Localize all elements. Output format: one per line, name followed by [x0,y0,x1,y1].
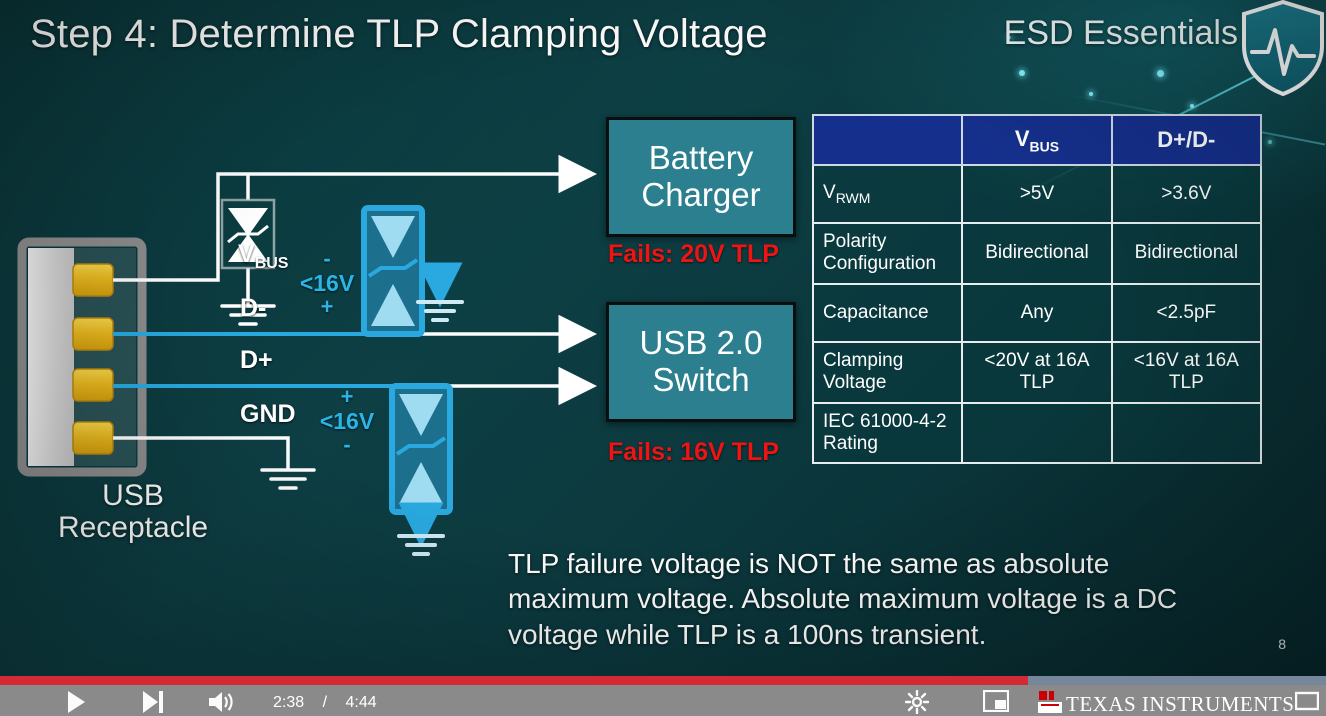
slide-caption: TLP failure voltage is NOT the same as a… [508,546,1208,652]
battery-charger-fail-note: Fails: 20V TLP [608,240,779,269]
slide-page-number: 8 [1278,636,1286,652]
cell-vrwm-dpdm: >3.6V [1112,165,1261,223]
usb-switch-fail-note: Fails: 16V TLP [608,438,779,467]
usb-caption-line2: Receptacle [18,512,248,544]
pin-label-dplus: D+ [240,346,273,375]
ti-brand-text: TEXAS INSTRUMENTS [1066,692,1294,716]
specification-table: VBUS D+/D- VRWM >5V >3.6V Polarity Confi… [812,114,1262,464]
row-label-iec: IEC 61000-4-2 Rating [813,403,962,464]
battery-charger-line1: Battery [641,140,760,177]
brand-label: ESD Essentials [1004,14,1238,53]
cell-polarity-dpdm: Bidirectional [1112,223,1261,284]
tvs-upper-value: <16V [290,270,364,296]
cell-clamping-vbus: <20V at 16A TLP [962,342,1111,403]
usb-receptacle-caption: USB Receptacle [18,480,248,545]
cell-polarity-vbus: Bidirectional [962,223,1111,284]
miniplayer-icon[interactable] [983,690,1009,712]
accent-dot-1 [1019,70,1025,76]
usb-switch-line2: Switch [640,362,763,399]
cell-iec-vbus [962,403,1111,464]
table-row: IEC 61000-4-2 Rating [813,403,1261,464]
video-player-controls: 2:38 / 4:44 TEXAS INSTRUMENTS [0,676,1326,716]
pin-label-gnd: GND [240,400,296,429]
pin-label-dminus: D- [240,294,266,323]
block-battery-charger: Battery Charger [606,117,796,237]
accent-dot-7 [1268,140,1272,144]
settings-gear-icon[interactable] [905,690,929,714]
tvs-lower-value: <16V [310,408,384,434]
current-time: 2:38 [273,694,304,711]
ti-logo-icon [1038,690,1062,714]
page-title: Step 4: Determine TLP Clamping Voltage [30,12,768,57]
slide-canvas: Step 4: Determine TLP Clamping Voltage E… [0,0,1326,676]
cell-capacitance-dpdm: <2.5pF [1112,284,1261,342]
cell-iec-dpdm [1112,403,1261,464]
next-track-icon[interactable] [140,690,164,714]
usb-switch-line1: USB 2.0 [640,325,763,362]
cell-capacitance-vbus: Any [962,284,1111,342]
row-label-polarity: Polarity Configuration [813,223,962,284]
duration: 4:44 [346,694,377,711]
battery-charger-line2: Charger [641,177,760,214]
tvs-upper-sign-bottom: + [290,296,364,318]
accent-dot-3 [1157,70,1164,77]
accent-dot-2 [1089,92,1093,96]
block-usb-switch: USB 2.0 Switch [606,302,796,422]
usb-caption-line1: USB [18,480,248,512]
progress-bar-track[interactable] [0,676,1326,685]
table-header-vbus: VBUS [962,115,1111,165]
table-row: Clamping Voltage <20V at 16A TLP <16V at… [813,342,1261,403]
cell-clamping-dpdm: <16V at 16A TLP [1112,342,1261,403]
table-header-blank [813,115,962,165]
video-player-stage: Step 4: Determine TLP Clamping Voltage E… [0,0,1326,716]
tvs-upper-sign-top: - [290,248,364,270]
table-row: Polarity Configuration Bidirectional Bid… [813,223,1261,284]
table-row: VRWM >5V >3.6V [813,165,1261,223]
tvs-diode-dminus-highlight [364,208,462,334]
table-header-row: VBUS D+/D- [813,115,1261,165]
table-header-dpdm: D+/D- [1112,115,1261,165]
volume-icon[interactable] [208,690,236,714]
shield-pulse-icon [1240,0,1326,96]
tvs-lower-sign-top: + [310,386,384,408]
tvs-upper-annotation: - <16V + [290,248,364,318]
play-icon[interactable] [64,690,88,714]
row-label-clamping: Clamping Voltage [813,342,962,403]
progress-bar-played[interactable] [0,676,1028,685]
time-display: 2:38 / 4:44 [273,694,377,712]
table-row: Capacitance Any <2.5pF [813,284,1261,342]
cell-vrwm-vbus: >5V [962,165,1111,223]
tvs-lower-annotation: + <16V - [310,386,384,456]
pin-label-vbus: VBUS [238,240,288,273]
row-label-capacitance: Capacitance [813,284,962,342]
tvs-lower-sign-bottom: - [310,434,384,456]
theater-mode-icon[interactable] [1295,690,1319,712]
row-label-vrwm: VRWM [813,165,962,223]
accent-dot-4 [1190,104,1194,108]
time-separator: / [323,694,327,711]
tvs-diode-dplus-highlight [392,386,450,554]
